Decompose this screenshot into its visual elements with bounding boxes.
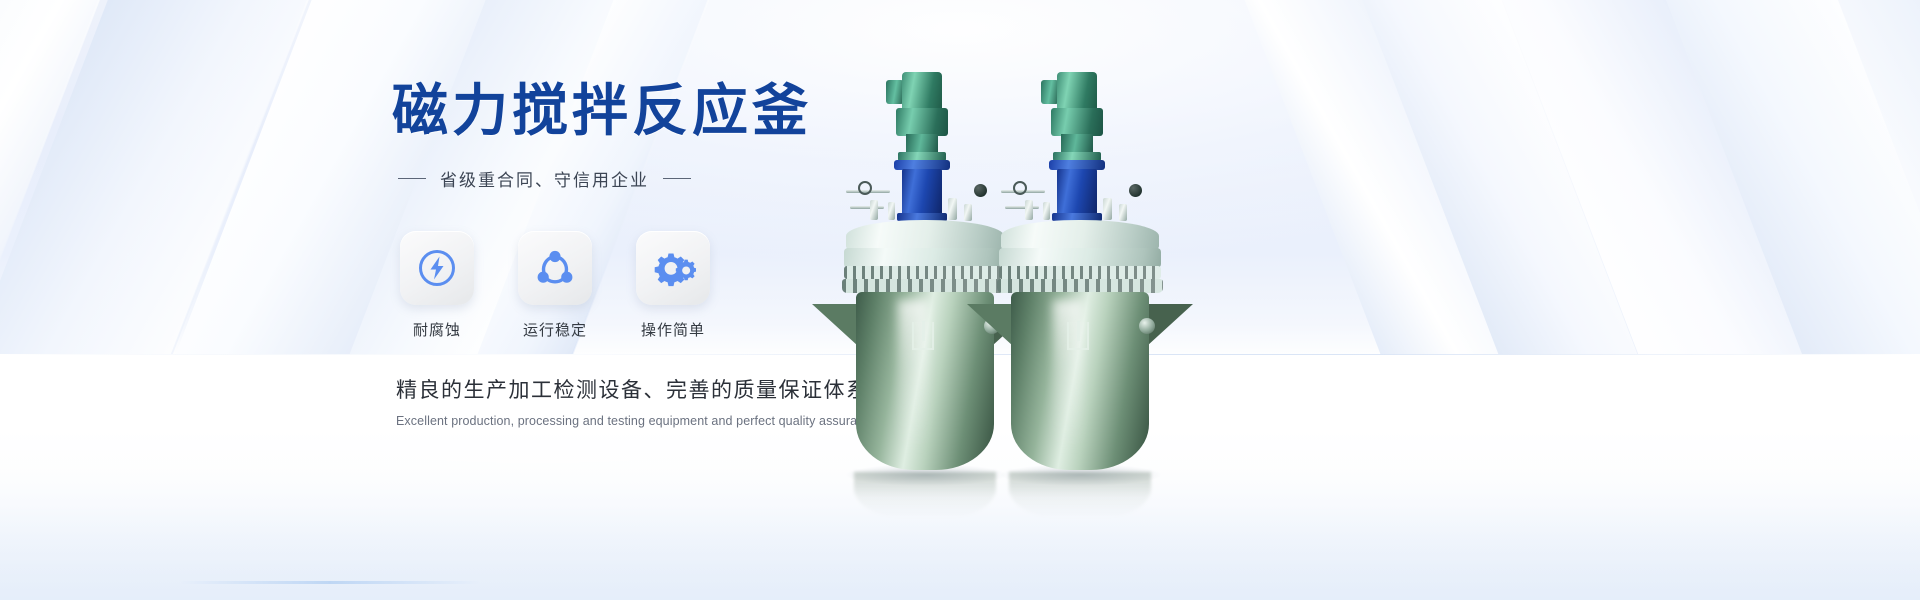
vessel-lid bbox=[1001, 220, 1159, 250]
nozzle-right bbox=[948, 198, 957, 220]
motor-neck bbox=[1061, 134, 1093, 154]
nozzle-mid-left bbox=[1043, 202, 1050, 220]
valve-handwheel-icon bbox=[1013, 181, 1027, 195]
feature-icon-card[interactable] bbox=[636, 231, 710, 305]
feature-item-corrosion-resistant[interactable]: 耐腐蚀 bbox=[400, 231, 474, 340]
feature-label: 运行稳定 bbox=[518, 319, 592, 340]
reactor-floor-reflection bbox=[1009, 472, 1151, 518]
flange-bolt-row-upper bbox=[999, 266, 1161, 279]
nozzle-left bbox=[1025, 200, 1033, 220]
pressure-gauge-icon bbox=[974, 184, 987, 197]
lightning-bolt-icon bbox=[415, 246, 459, 290]
pressure-gauge-icon bbox=[1129, 184, 1142, 197]
flange-bolt-row-lower bbox=[997, 279, 1163, 293]
nozzle-right bbox=[1103, 198, 1112, 220]
banner-subtitle: 省级重合同、守信用企业 bbox=[440, 166, 649, 191]
vessel-nameplate bbox=[1067, 322, 1089, 350]
reactor-unit-right bbox=[995, 60, 1165, 480]
nozzle-far-right bbox=[964, 204, 972, 221]
valve-handwheel-icon bbox=[858, 181, 872, 195]
feature-item-stable-operation[interactable]: 运行稳定 bbox=[518, 231, 592, 340]
flange-bolt-row-lower bbox=[842, 279, 1008, 293]
feature-item-simple-operation[interactable]: 操作简单 bbox=[636, 231, 710, 340]
support-leg-left bbox=[812, 304, 858, 346]
vessel-nameplate bbox=[912, 322, 934, 350]
promo-banner: 磁力搅拌反应釜 省级重合同、守信用企业 耐腐蚀 bbox=[0, 0, 1920, 600]
share-nodes-icon bbox=[533, 246, 577, 290]
vessel-lid bbox=[846, 220, 1004, 250]
gears-icon bbox=[650, 246, 696, 290]
outlet-pipe bbox=[850, 206, 884, 209]
motor-body bbox=[1051, 108, 1103, 136]
nozzle-mid-left bbox=[888, 202, 895, 220]
dash-left-icon bbox=[398, 178, 426, 179]
motor-top-housing bbox=[1057, 72, 1097, 112]
feature-label: 操作简单 bbox=[636, 319, 710, 340]
reactor-floor-reflection bbox=[854, 472, 996, 518]
product-image-reactor-pair bbox=[830, 60, 1210, 480]
motor-body bbox=[896, 108, 948, 136]
motor-top-housing bbox=[902, 72, 942, 112]
motor-neck bbox=[906, 134, 938, 154]
vessel-lid-band bbox=[844, 248, 1006, 268]
flange-bolt-row-upper bbox=[844, 266, 1006, 279]
nozzle-left bbox=[870, 200, 878, 220]
vessel-side-port bbox=[1139, 318, 1155, 334]
support-leg-left bbox=[967, 304, 1013, 346]
vessel-lid-band bbox=[999, 248, 1161, 268]
feature-label: 耐腐蚀 bbox=[400, 319, 474, 340]
magnetic-drive-cylinder bbox=[902, 169, 942, 217]
outlet-pipe bbox=[1005, 206, 1039, 209]
dash-right-icon bbox=[663, 178, 691, 179]
nozzle-far-right bbox=[1119, 204, 1127, 221]
feature-icon-card[interactable] bbox=[400, 231, 474, 305]
magnetic-drive-cylinder bbox=[1057, 169, 1097, 217]
floor-reflection-streak bbox=[180, 581, 480, 584]
reactor-unit-left bbox=[840, 60, 1010, 480]
feature-icon-card[interactable] bbox=[518, 231, 592, 305]
